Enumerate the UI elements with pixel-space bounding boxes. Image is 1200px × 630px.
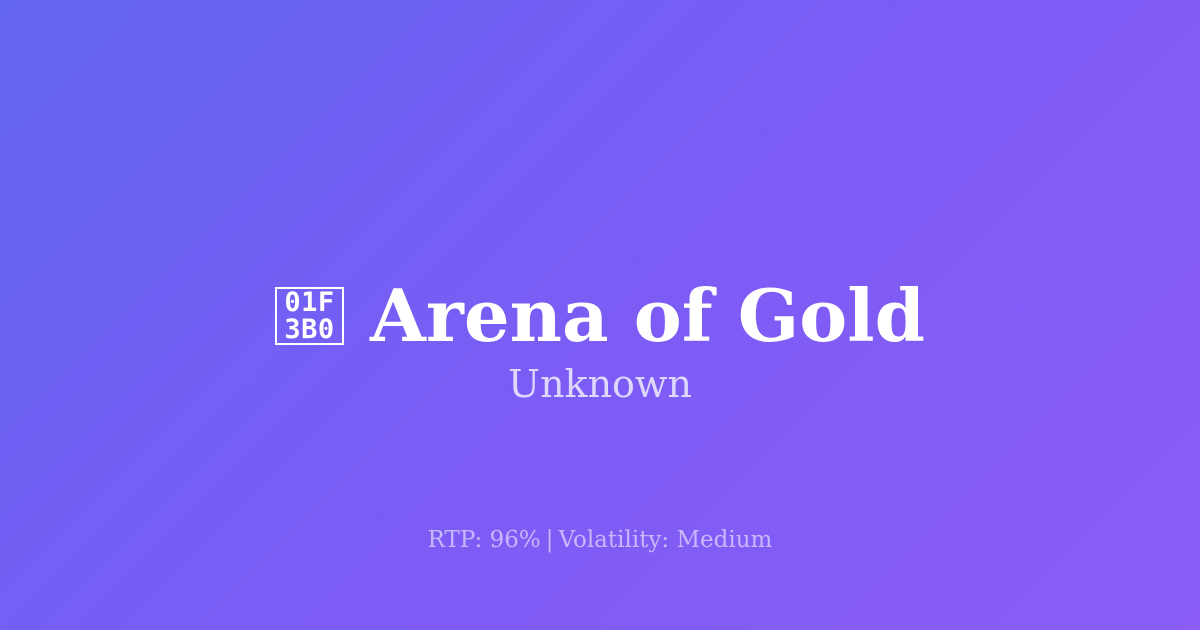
tofu-codepoint-top: 01F [284, 289, 334, 316]
stats-separator: | [541, 527, 559, 553]
game-preview-card: 01F 3B0 Arena of Gold Unknown RTP: 96%|V… [0, 0, 1200, 630]
page-title: Arena of Gold [370, 280, 925, 352]
rtp-stat: RTP: 96% [428, 527, 541, 553]
volatility-stat: Volatility: Medium [558, 527, 772, 553]
provider-subtitle: Unknown [0, 365, 1200, 403]
game-stats-line: RTP: 96%|Volatility: Medium [0, 529, 1200, 552]
slot-machine-icon: 01F 3B0 [275, 287, 344, 345]
tofu-codepoint-bottom: 3B0 [284, 316, 334, 343]
